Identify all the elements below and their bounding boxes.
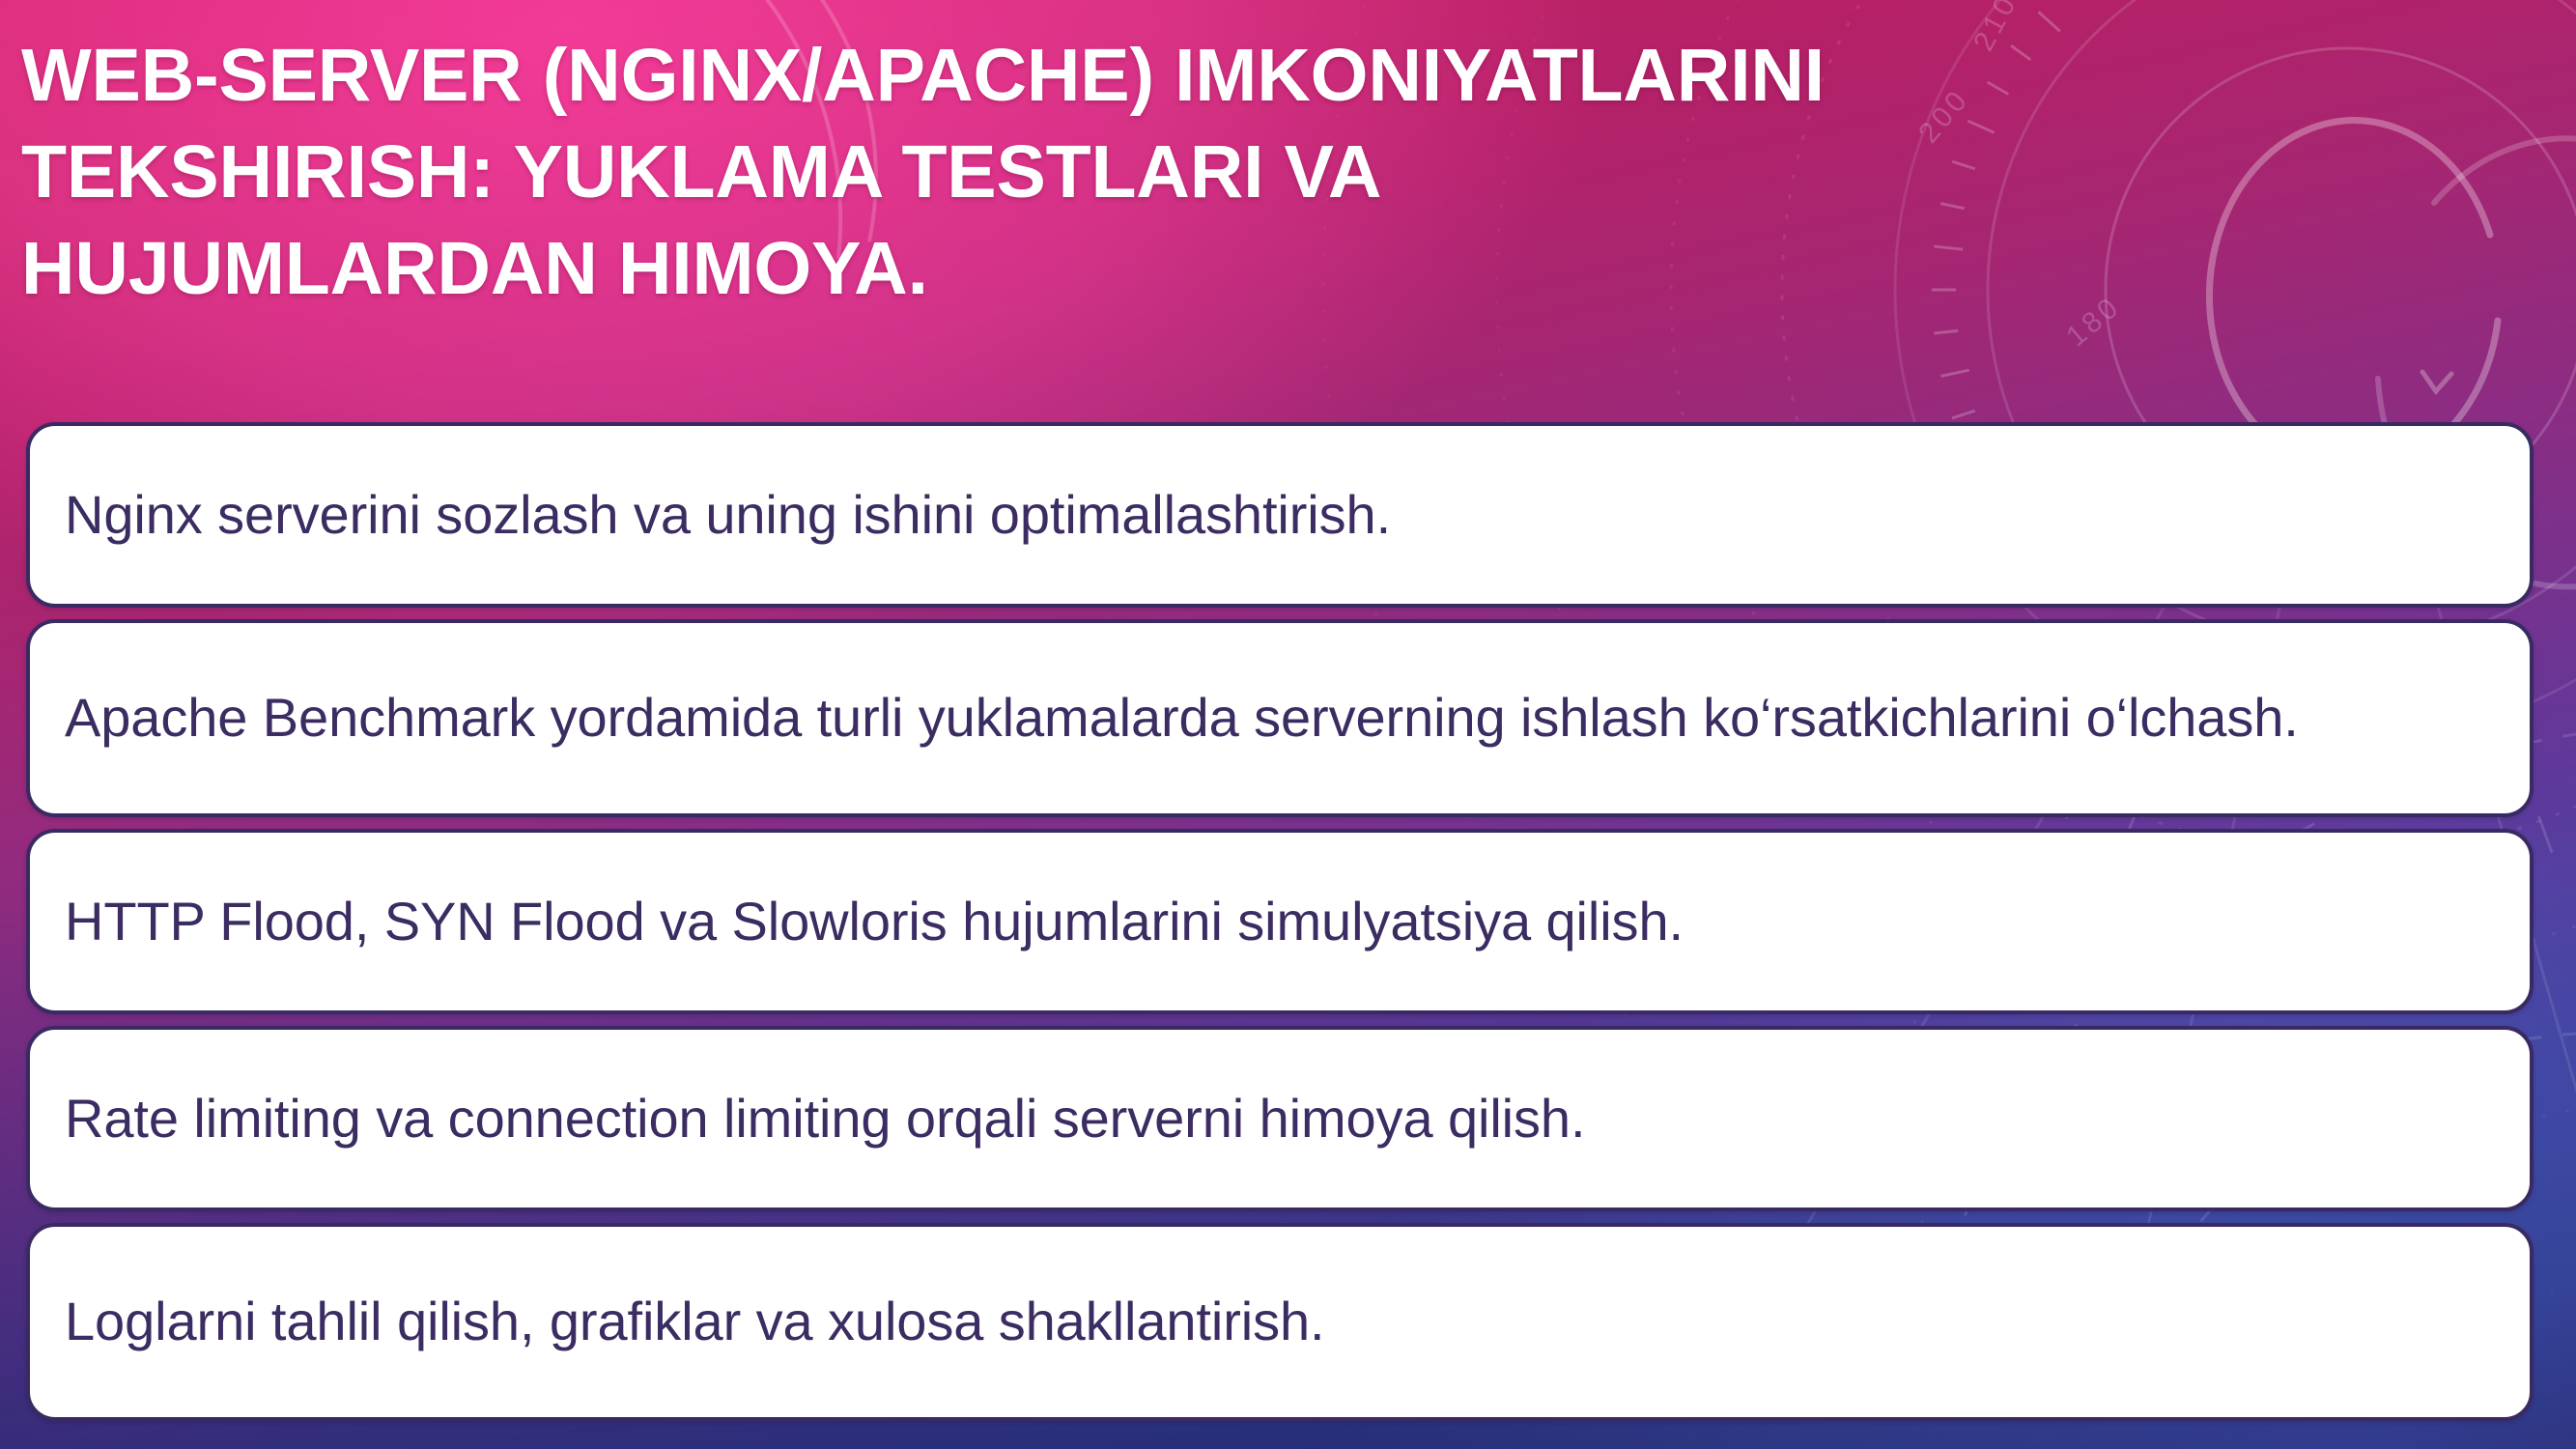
presentation-slide: 210 200 180 170 160 WEB-SERVER (NGINX/AP…: [0, 0, 2576, 1449]
bullet-box-text: Nginx serverini sozlash va uning ishini …: [65, 477, 1391, 553]
bullet-box[interactable]: HTTP Flood, SYN Flood va Slowloris hujum…: [26, 829, 2534, 1014]
bullet-box-text: HTTP Flood, SYN Flood va Slowloris hujum…: [65, 884, 1684, 959]
bullet-box-text: Apache Benchmark yordamida turli yuklama…: [65, 680, 2299, 755]
bullet-box[interactable]: Loglarni tahlil qilish, grafiklar va xul…: [26, 1223, 2534, 1421]
bullet-box-text: Rate limiting va connection limiting orq…: [65, 1081, 1585, 1156]
slide-title-line-3: HUJUMLARDAN HIMOYA.: [21, 220, 2465, 317]
slide-title: WEB-SERVER (NGINX/APACHE) IMKONIYATLARIN…: [21, 27, 2465, 317]
bullet-box-list: Nginx serverini sozlash va uning ishini …: [26, 422, 2534, 1433]
slide-title-line-2: TEKSHIRISH: YUKLAMA TESTLARI VA: [21, 124, 2465, 220]
bullet-box-text: Loglarni tahlil qilish, grafiklar va xul…: [65, 1284, 1325, 1359]
bullet-box[interactable]: Apache Benchmark yordamida turli yuklama…: [26, 619, 2534, 817]
bullet-box[interactable]: Rate limiting va connection limiting orq…: [26, 1026, 2534, 1211]
slide-title-line-1: WEB-SERVER (NGINX/APACHE) IMKONIYATLARIN…: [21, 27, 2465, 124]
bullet-box[interactable]: Nginx serverini sozlash va uning ishini …: [26, 422, 2534, 608]
